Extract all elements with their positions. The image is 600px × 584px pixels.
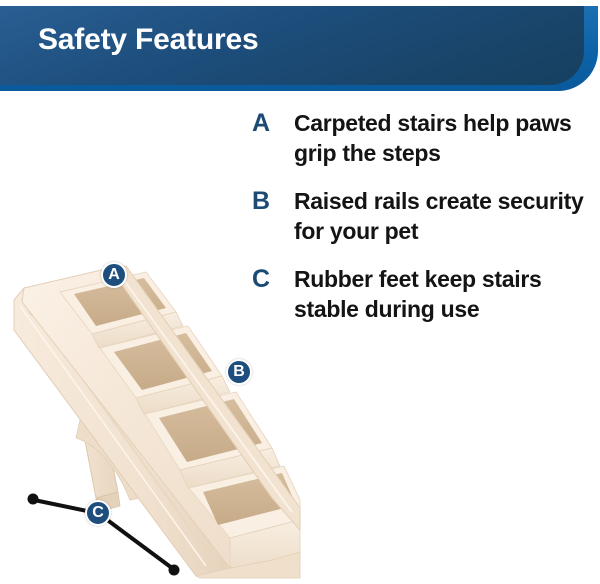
callout-badge-c[interactable]: C (85, 500, 111, 526)
callout-badge-b[interactable]: B (226, 359, 252, 385)
callout-badge-a[interactable]: A (101, 262, 127, 288)
stair-body (22, 266, 300, 578)
page-title: Safety Features (38, 23, 258, 57)
product-image-pet-stairs (0, 0, 300, 584)
